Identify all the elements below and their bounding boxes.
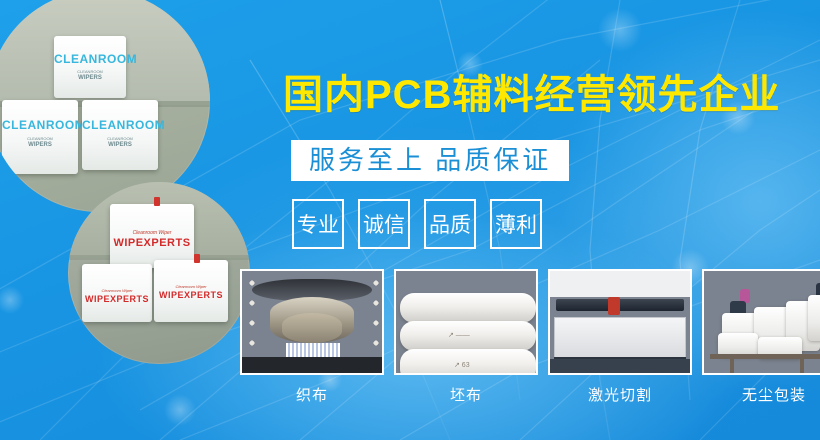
pack-subtext: CLEANROOM — [2, 136, 78, 141]
process-caption: 坯布 — [394, 384, 538, 405]
keyword-box-baoli[interactable]: 薄利 — [490, 199, 542, 249]
pack-brand-label: WIPEXPERTS — [110, 237, 194, 249]
pack-subtext: Cleanroom Wiper — [154, 284, 228, 289]
pack-brand-label: CLEANROOM — [82, 118, 158, 132]
keyword-label: 诚信 — [363, 209, 405, 239]
keyword-box-pinzhi[interactable]: 品质 — [424, 199, 476, 249]
cleanroom-packing-photo — [702, 269, 820, 375]
pack-wipers-label: WIPERS — [2, 142, 78, 148]
subtitle-text: 服务至上 品质保证 — [309, 145, 551, 175]
laser-cutting-machine-photo — [548, 269, 692, 375]
process-caption: 激光切割 — [548, 384, 692, 405]
product-photo-cleanroom: CLEANROOM CLEANROOM WIPERS CLEANROOM CLE… — [0, 0, 210, 212]
process-caption: 织布 — [240, 384, 384, 405]
pack-subtext: CLEANROOM — [82, 136, 158, 141]
process-item-cleanroom-packing[interactable]: 无尘包装 — [702, 269, 820, 405]
keyword-label: 专业 — [297, 209, 339, 239]
process-item-laser-cutting[interactable]: 激光切割 — [548, 269, 692, 405]
keyword-box-group: 专业 诚信 品质 薄利 — [292, 199, 542, 249]
fabric-rolls-photo: ↗ —— ↗ 63 — [394, 269, 538, 375]
keyword-box-chengxin[interactable]: 诚信 — [358, 199, 410, 249]
headline-text: 国内PCB辅料经营领先企业 — [283, 72, 780, 118]
process-caption: 无尘包装 — [702, 384, 820, 405]
pack-brand-label: CLEANROOM — [54, 52, 126, 66]
process-photo-strip: 织布 ↗ —— ↗ 63 坯布 激光切割 — [240, 269, 820, 405]
pack-subtext: CLEANROOM — [54, 69, 126, 74]
process-item-greige-fabric[interactable]: ↗ —— ↗ 63 坯布 — [394, 269, 538, 405]
pack-wipers-label: WIPERS — [54, 75, 126, 81]
pack-wipers-label: WIPERS — [82, 142, 158, 148]
keyword-label: 薄利 — [495, 209, 537, 239]
pack-brand-label: WIPEXPERTS — [82, 294, 152, 304]
pack-brand-label: WIPEXPERTS — [154, 290, 228, 300]
pack-subtext: Cleanroom Wiper — [82, 288, 152, 293]
process-item-weaving[interactable]: 织布 — [240, 269, 384, 405]
keyword-box-zhuanye[interactable]: 专业 — [292, 199, 344, 249]
pack-brand-label: CLEANROOM — [2, 118, 78, 132]
subtitle-bar: 服务至上 品质保证 — [291, 140, 569, 181]
pack-subtext: Cleanroom Wiper — [110, 230, 194, 236]
product-photo-wipexperts: Cleanroom Wiper WIPEXPERTS Cleanroom Wip… — [68, 182, 250, 364]
keyword-label: 品质 — [429, 209, 471, 239]
promotional-banner: CLEANROOM CLEANROOM WIPERS CLEANROOM CLE… — [0, 0, 820, 440]
knitting-machine-photo — [240, 269, 384, 375]
